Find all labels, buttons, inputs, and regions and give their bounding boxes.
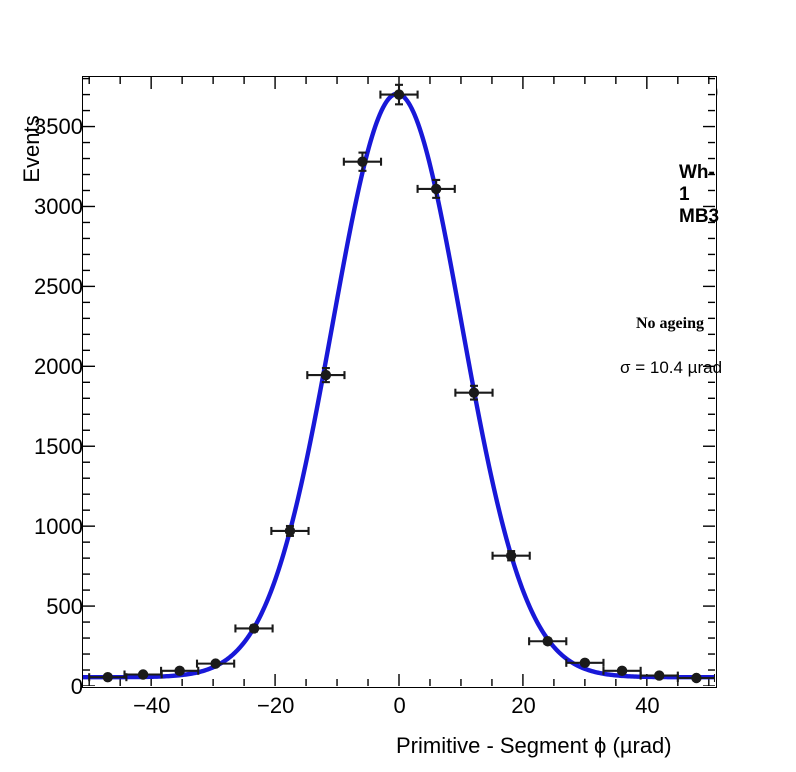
cms-header: CMS Phase-2 Simulation Preliminary PU 20… (0, 38, 796, 72)
y-axis-title: Events (19, 89, 45, 209)
chamber-label: Wh-1 MB3 (679, 162, 719, 228)
data-point (455, 386, 492, 400)
x-tick-label: −20 (236, 695, 316, 717)
axis-ticks (83, 77, 715, 686)
x-tick-label: 40 (607, 695, 687, 717)
data-point (271, 526, 308, 536)
x-tick-label: −40 (112, 695, 192, 717)
y-tick-label: 1000 (34, 516, 83, 538)
y-tick-label: 0 (71, 676, 83, 698)
y-tick-label: 2000 (34, 356, 83, 378)
y-tick-label: 3000 (34, 196, 83, 218)
data-point (566, 658, 603, 668)
data-point (235, 623, 272, 633)
x-tick-label: 0 (360, 695, 440, 717)
gaussian-fit-curve (83, 94, 715, 677)
plot-frame: Wh-1 MB3 No ageing σ = 10.4 µrad (82, 76, 717, 688)
plot-area (83, 77, 715, 686)
resolution-label: σ = 10.4 µrad (620, 358, 722, 378)
plot-canvas: CMS Phase-2 Simulation Preliminary PU 20… (0, 0, 796, 772)
ageing-label: No ageing (636, 315, 704, 333)
y-tick-label: 500 (46, 596, 83, 618)
data-point (529, 636, 566, 646)
y-tick-label: 3500 (34, 116, 83, 138)
data-point (307, 368, 344, 382)
data-points (89, 85, 715, 683)
data-point (418, 180, 455, 198)
data-point (493, 551, 530, 561)
data-point (344, 153, 381, 171)
y-tick-label: 1500 (34, 436, 83, 458)
x-axis-title: Primitive - Segment ϕ (µrad) (396, 733, 672, 759)
y-tick-label: 2500 (34, 276, 83, 298)
x-tick-label: 20 (484, 695, 564, 717)
